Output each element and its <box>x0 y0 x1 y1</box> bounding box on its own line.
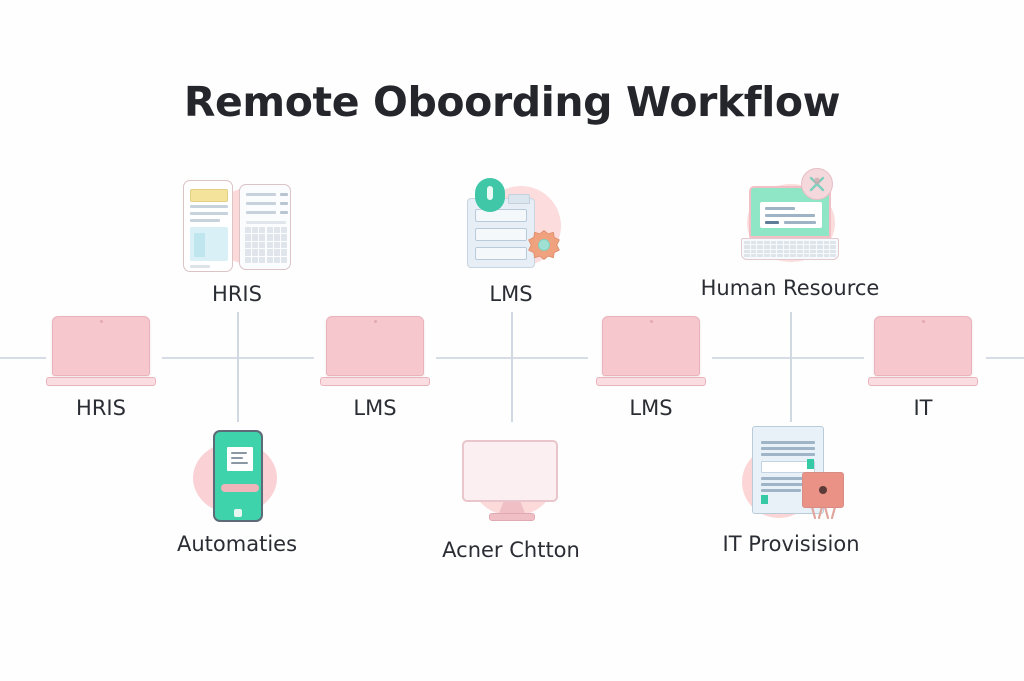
node-lms-2-label: LMS <box>629 396 672 420</box>
page-title: Remote Oboording Workflow <box>0 78 1024 126</box>
document-lock-icon <box>736 424 846 524</box>
top-branch-lms[interactable]: LMS <box>459 178 563 306</box>
laptop-icon <box>46 316 156 388</box>
laptop-icon <box>320 316 430 388</box>
top-branch-hris-label: HRIS <box>212 282 262 306</box>
dual-panel-document-icon <box>177 178 297 274</box>
user-badge-icon <box>801 168 833 200</box>
branch-line-3 <box>790 312 792 422</box>
bottom-branch-acner-chtton[interactable]: Acner Chtton <box>456 434 566 562</box>
connector-line-4 <box>986 357 1024 359</box>
laptop-badge-icon <box>735 172 845 268</box>
bottom-branch-it-provision[interactable]: IT Provisision <box>736 424 846 556</box>
connector-line-3 <box>712 357 864 359</box>
node-lms-1-label: LMS <box>353 396 396 420</box>
bottom-branch-it-provision-label: IT Provisision <box>723 532 860 556</box>
branch-line-2 <box>511 312 513 422</box>
top-branch-lms-label: LMS <box>489 282 532 306</box>
node-lms-2[interactable]: LMS <box>596 316 706 420</box>
top-branch-hris[interactable]: HRIS <box>177 178 297 306</box>
top-branch-human-resource[interactable]: Human Resource <box>735 172 845 300</box>
desktop-monitor-icon <box>456 434 566 530</box>
branch-line-1 <box>237 312 239 422</box>
top-branch-human-resource-label: Human Resource <box>701 276 880 300</box>
node-hris-label: HRIS <box>76 396 126 420</box>
node-it[interactable]: IT <box>868 316 978 420</box>
form-checklist-gear-icon <box>459 178 563 274</box>
bottom-branch-acner-chtton-label: Acner Chtton <box>442 538 580 562</box>
node-it-label: IT <box>913 396 932 420</box>
laptop-icon <box>596 316 706 388</box>
laptop-icon <box>868 316 978 388</box>
bottom-branch-automaties[interactable]: Automaties <box>185 428 289 556</box>
node-lms-1[interactable]: LMS <box>320 316 430 420</box>
bottom-branch-automaties-label: Automaties <box>177 532 297 556</box>
workflow-diagram-canvas: Remote Oboording Workflow <box>0 0 1024 681</box>
node-hris[interactable]: HRIS <box>46 316 156 420</box>
connector-line-0 <box>0 357 46 359</box>
mobile-phone-icon <box>185 428 289 524</box>
